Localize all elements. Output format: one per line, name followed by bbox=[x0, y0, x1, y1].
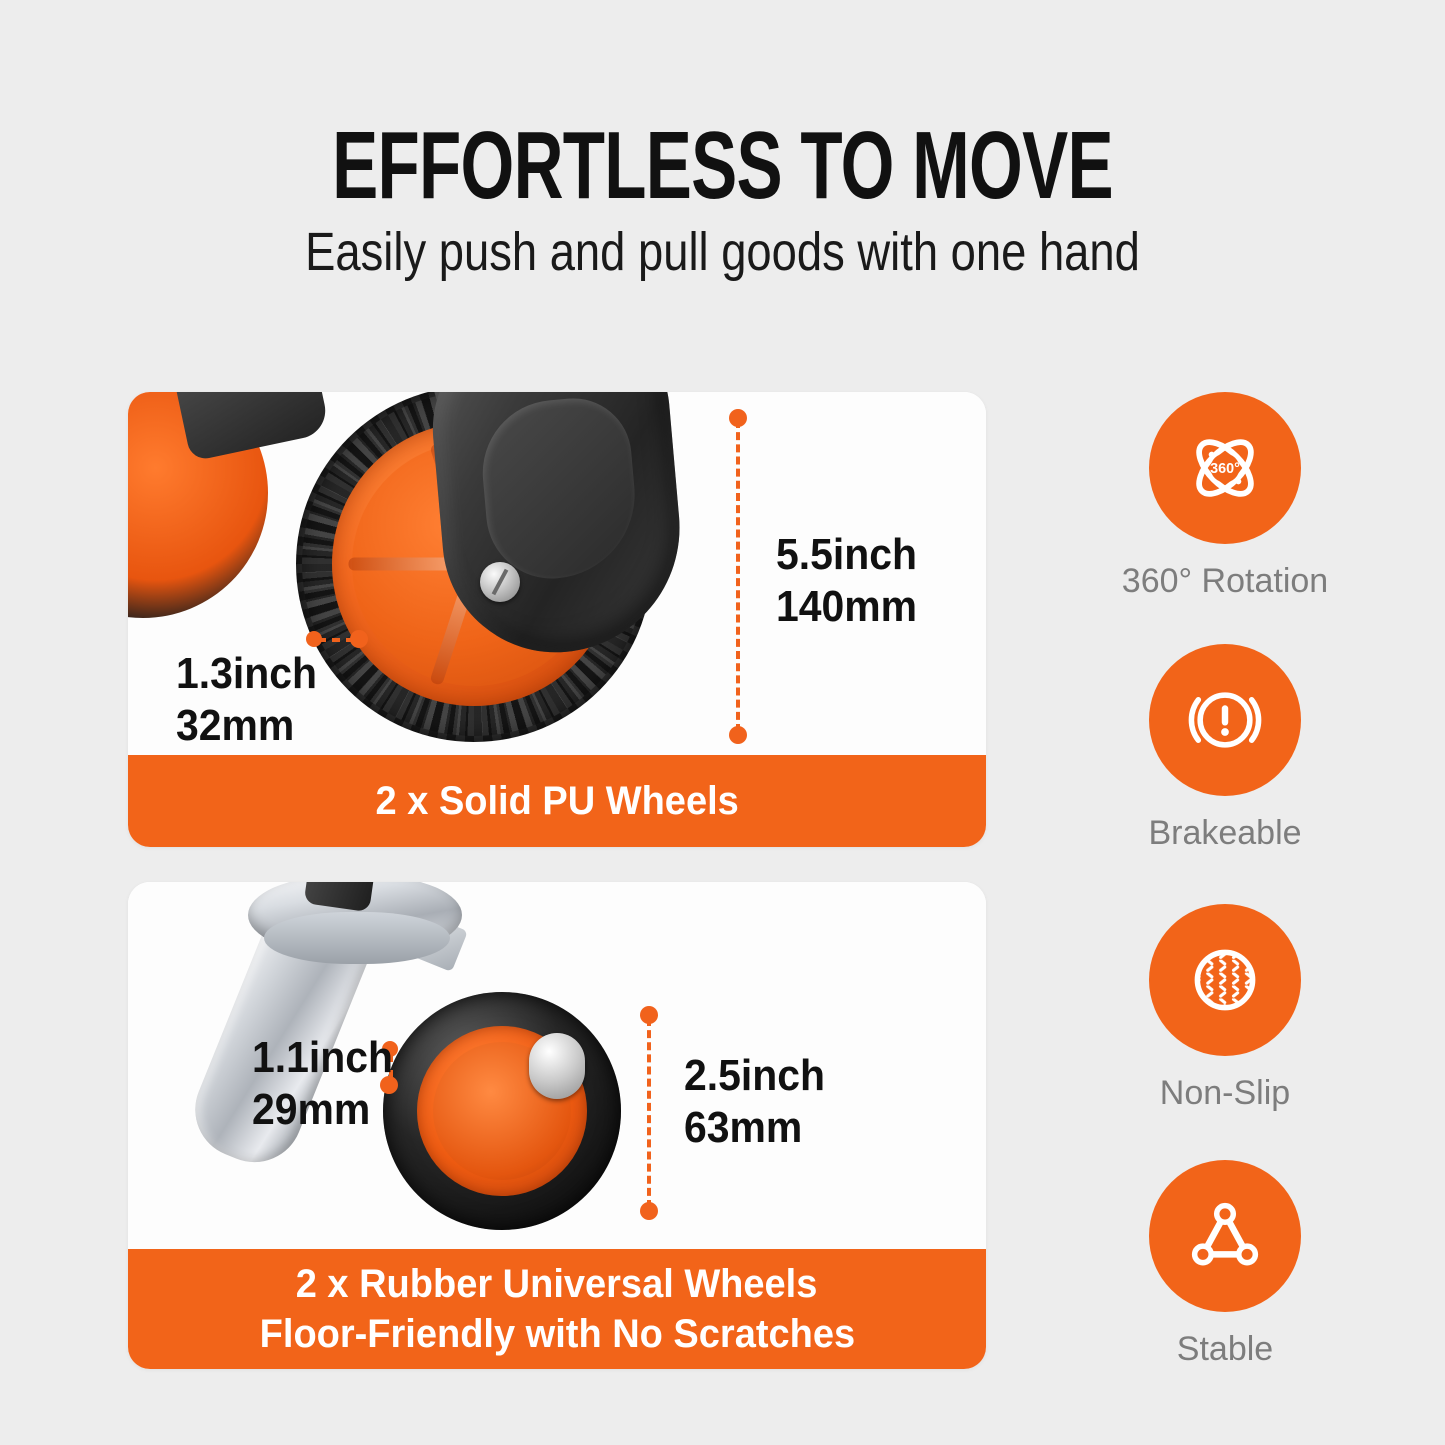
card-banner-rubber-universal-wheels: 2 x Rubber Universal Wheels Floor-Friend… bbox=[128, 1249, 986, 1369]
dimension-dot bbox=[729, 409, 747, 427]
tread-pattern-icon bbox=[1179, 934, 1271, 1026]
360-rotation-icon: 360° bbox=[1177, 420, 1273, 516]
feature-icon-badge: 360° bbox=[1149, 392, 1301, 544]
dimension-dot bbox=[306, 631, 322, 647]
dimension-dot bbox=[640, 1006, 658, 1024]
dimension-line-width bbox=[318, 638, 354, 642]
dimension-label-width: 1.3inch 32mm bbox=[176, 648, 317, 752]
triangle-nodes-icon bbox=[1179, 1190, 1271, 1282]
feature-item-brakeable: Brakeable bbox=[1075, 644, 1375, 853]
product-photo-swivel-caster: 1.1inch 29mm 2.5inch 63mm bbox=[128, 882, 986, 1249]
feature-icon-badge bbox=[1149, 904, 1301, 1056]
dimension-label-diameter: 5.5inch 140mm bbox=[776, 529, 917, 633]
page-subtitle: Easily push and pull goods with one hand bbox=[116, 222, 1330, 282]
caster-swivel-ring-graphic bbox=[264, 912, 450, 964]
banner-line: 2 x Rubber Universal Wheels bbox=[296, 1259, 818, 1309]
banner-line: 2 x Solid PU Wheels bbox=[375, 777, 738, 825]
brake-warning-icon bbox=[1179, 674, 1271, 766]
feature-list: 360° 360° Rotation Brakeable bbox=[1075, 392, 1375, 1382]
dimension-line-diameter bbox=[736, 420, 740, 732]
feature-item-rotation: 360° 360° Rotation bbox=[1075, 392, 1375, 601]
banner-line: Floor-Friendly with No Scratches bbox=[259, 1309, 854, 1359]
dimension-label-diameter: 2.5inch 63mm bbox=[684, 1050, 825, 1154]
dimension-dot bbox=[350, 630, 368, 648]
card-banner-solid-pu-wheels: 2 x Solid PU Wheels bbox=[128, 755, 986, 847]
product-photo-solid-pu-wheel: 1.3inch 32mm 5.5inch 140mm bbox=[128, 392, 986, 755]
feature-icon-badge bbox=[1149, 644, 1301, 796]
header: EFFORTLESS TO MOVE Easily push and pull … bbox=[0, 0, 1445, 330]
caster-fork-face bbox=[477, 394, 642, 584]
dimension-dot bbox=[729, 726, 747, 744]
feature-label: Brakeable bbox=[1075, 814, 1375, 853]
feature-label: Stable bbox=[1075, 1330, 1375, 1369]
page-title: EFFORTLESS TO MOVE bbox=[202, 118, 1242, 214]
product-card-rubber-universal-wheels: 1.1inch 29mm 2.5inch 63mm 2 x Rubber Uni… bbox=[128, 882, 986, 1369]
axle-cap-graphic bbox=[529, 1033, 585, 1099]
feature-label: 360° Rotation bbox=[1075, 562, 1375, 601]
tire-graphic bbox=[383, 992, 621, 1230]
feature-item-non-slip: Non-Slip bbox=[1075, 904, 1375, 1113]
svg-text:360°: 360° bbox=[1210, 461, 1240, 477]
feature-label: Non-Slip bbox=[1075, 1074, 1375, 1113]
feature-icon-badge bbox=[1149, 1160, 1301, 1312]
feature-item-stable: Stable bbox=[1075, 1160, 1375, 1369]
dimension-dot bbox=[640, 1202, 658, 1220]
product-card-solid-pu-wheels: 1.3inch 32mm 5.5inch 140mm 2 x Solid PU … bbox=[128, 392, 986, 847]
axle-screw-graphic bbox=[480, 562, 520, 602]
dimension-label-width: 1.1inch 29mm bbox=[252, 1032, 393, 1136]
dimension-line-diameter bbox=[647, 1018, 651, 1208]
